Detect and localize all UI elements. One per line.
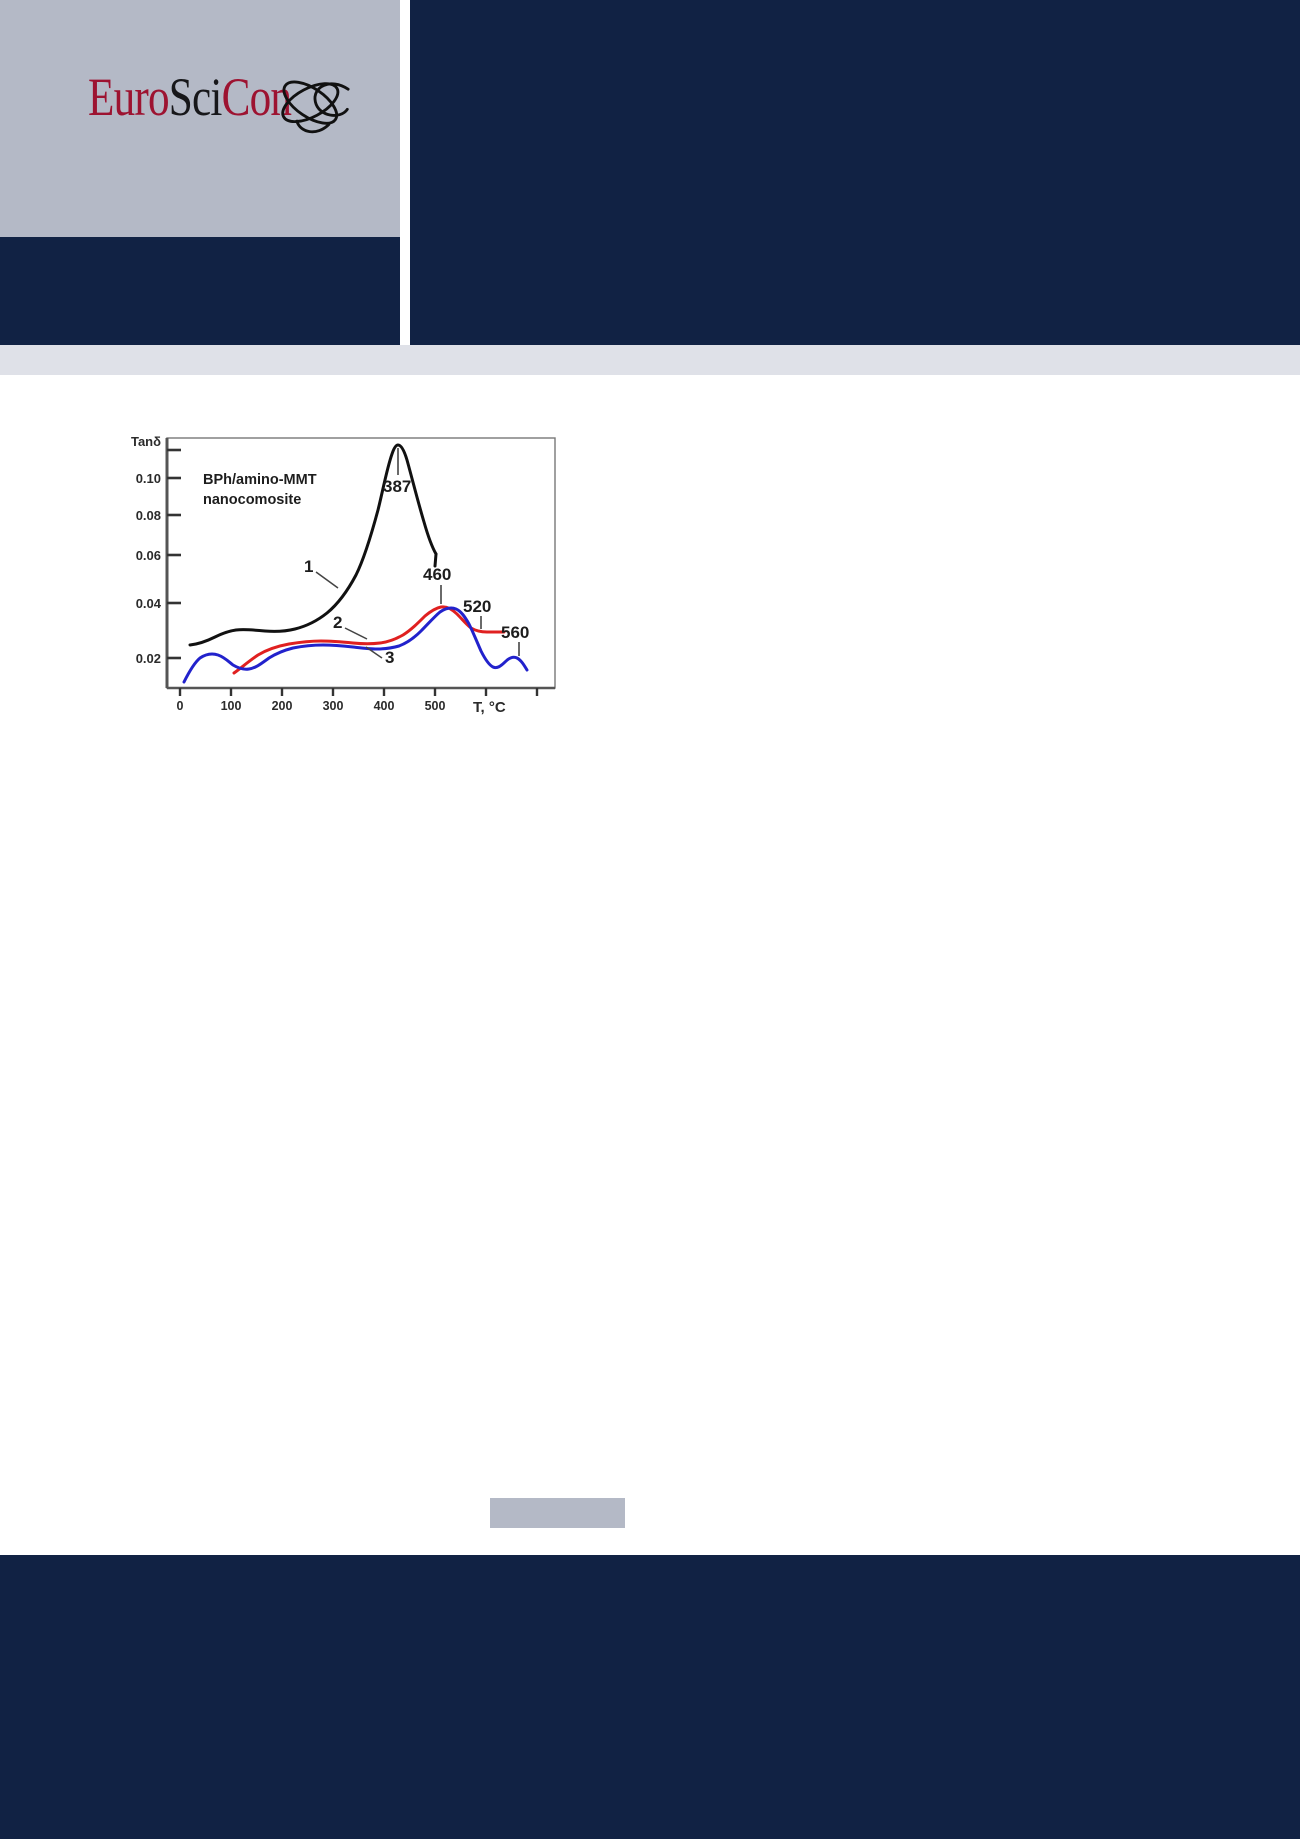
- annotation-label-520: 520: [463, 597, 491, 616]
- header-left-block: [0, 237, 400, 345]
- x-tick-marks: [180, 688, 537, 696]
- y-axis-title: Tanδ: [131, 434, 161, 449]
- y-tick-labels: Tanδ 0.10 0.08 0.06 0.04 0.02: [131, 434, 162, 666]
- tan-delta-chart-figure: Tanδ 0.10 0.08 0.06 0.04 0.02: [95, 420, 585, 730]
- y-tick-label-0.06: 0.06: [136, 548, 161, 563]
- x-tick-label-100: 100: [221, 699, 242, 713]
- header-divider-rule: [0, 345, 1300, 375]
- curve-label-1: 1: [304, 557, 313, 576]
- header-right-block: [410, 0, 1300, 345]
- curve-label-2: 2: [333, 613, 342, 632]
- annotation-label-387: 387: [383, 477, 411, 496]
- annotation-label-460: 460: [423, 565, 451, 584]
- y-tick-label-0.10: 0.10: [136, 471, 161, 486]
- atom-orbit-icon: [270, 64, 354, 148]
- logo-segment-euro: Euro: [88, 67, 169, 127]
- curve-label-3: 3: [385, 648, 394, 667]
- eurosci-con-logo: EuroSciCon: [88, 62, 358, 162]
- y-tick-label-0.08: 0.08: [136, 508, 161, 523]
- x-tick-labels: 0 100 200 300 400 500: [177, 699, 446, 713]
- tan-delta-chart: Tanδ 0.10 0.08 0.06 0.04 0.02: [95, 420, 585, 730]
- x-axis-title: T, °C: [473, 699, 506, 716]
- y-tick-label-0.04: 0.04: [136, 596, 162, 611]
- page-number-chip: [490, 1498, 625, 1528]
- annotation-label-560: 560: [501, 623, 529, 642]
- slide-footer: [0, 1555, 1300, 1839]
- x-tick-label-300: 300: [323, 699, 344, 713]
- x-tick-label-200: 200: [272, 699, 293, 713]
- annotation-title-line-1: BPh/amino-MMT: [203, 472, 317, 488]
- y-tick-label-0.02: 0.02: [136, 651, 161, 666]
- slide-header: EuroSciCon: [0, 0, 1300, 345]
- logo-panel: EuroSciCon: [0, 0, 400, 237]
- logo-wordmark: EuroSciCon: [88, 70, 291, 124]
- slide-body: Tanδ 0.10 0.08 0.06 0.04 0.02: [0, 375, 1300, 1495]
- annotation-title-line-2: nanocomosite: [203, 492, 301, 508]
- logo-segment-sci: Sci: [169, 67, 222, 127]
- x-tick-label-0: 0: [177, 699, 184, 713]
- x-tick-label-500: 500: [425, 699, 446, 713]
- x-tick-label-400: 400: [374, 699, 395, 713]
